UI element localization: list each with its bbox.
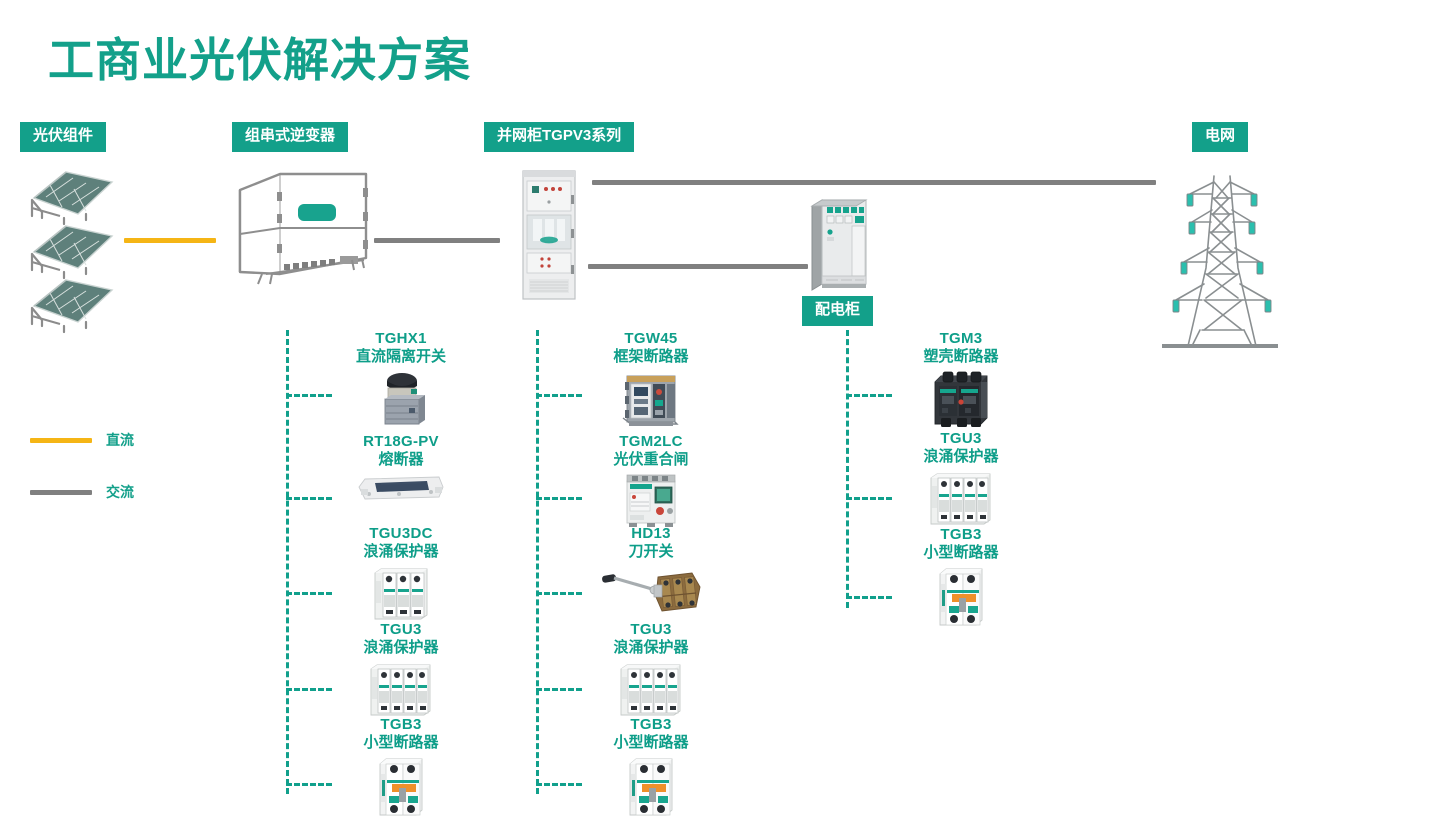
stage-badge-pv-modules[interactable]: 光伏组件 bbox=[20, 122, 106, 152]
product-name: 塑壳断路器 bbox=[846, 348, 1076, 366]
distribution-cabinet-unit bbox=[808, 196, 870, 292]
string-inverter-unit bbox=[232, 168, 374, 304]
transmission-tower-icon bbox=[1162, 168, 1282, 358]
product-name: 光伏重合闸 bbox=[536, 451, 766, 469]
product-item[interactable]: TGW45 框架断路器 bbox=[536, 330, 766, 430]
product-item[interactable]: TGB3 小型断路器 bbox=[846, 526, 1076, 630]
product-image-mcb-2pole bbox=[286, 754, 516, 820]
product-model: TGM3 bbox=[846, 330, 1076, 348]
grid-cabinet-icon bbox=[521, 169, 577, 301]
product-model: TGB3 bbox=[536, 716, 766, 734]
stage-badge-distribution-cabinet[interactable]: 配电柜 bbox=[802, 296, 873, 326]
grid-connection-cabinet bbox=[521, 169, 577, 301]
product-image-knife-switch bbox=[536, 563, 766, 615]
product-model: TGU3 bbox=[286, 621, 516, 639]
stage-badge-power-grid[interactable]: 电网 bbox=[1192, 122, 1248, 152]
product-item[interactable]: TGU3DC 浪涌保护器 bbox=[286, 525, 516, 625]
product-model: TGU3DC bbox=[286, 525, 516, 543]
pv-panel-array bbox=[26, 166, 126, 326]
product-model: TGW45 bbox=[536, 330, 766, 348]
legend-label-dc: 直流 bbox=[106, 430, 134, 450]
product-model: TGU3 bbox=[536, 621, 766, 639]
product-model: HD13 bbox=[536, 525, 766, 543]
stage-badge-string-inverter[interactable]: 组串式逆变器 bbox=[232, 122, 348, 152]
flow-line-dc-pv-to-inverter bbox=[124, 238, 216, 243]
product-item[interactable]: RT18G-PV 熔断器 bbox=[286, 433, 516, 505]
product-image-spd-4pole bbox=[286, 659, 516, 721]
product-item[interactable]: TGB3 小型断路器 bbox=[286, 716, 516, 820]
product-column-distribution: TGM3 塑壳断路器 bbox=[846, 330, 1076, 640]
product-item[interactable]: TGM2LC 光伏重合闸 bbox=[536, 433, 766, 527]
product-name: 小型断路器 bbox=[846, 544, 1076, 562]
product-model: TGB3 bbox=[286, 716, 516, 734]
product-image-mcb-2pole bbox=[536, 754, 766, 820]
legend: 直流 交流 bbox=[30, 430, 134, 502]
product-column-inverter: TGHX1 直流隔离开关 bbox=[286, 330, 516, 830]
product-image-spd-3pole bbox=[286, 563, 516, 625]
inverter-icon bbox=[232, 168, 374, 304]
product-image-mccb bbox=[846, 368, 1076, 430]
product-image-spd-4pole bbox=[536, 659, 766, 721]
product-model: TGHX1 bbox=[286, 330, 516, 348]
product-name: 框架断路器 bbox=[536, 348, 766, 366]
product-name: 熔断器 bbox=[286, 451, 516, 469]
product-item[interactable]: HD13 刀开关 bbox=[536, 525, 766, 615]
legend-swatch-dc bbox=[30, 438, 92, 443]
diagram-canvas: 工商业光伏解决方案 光伏组件 组串式逆变器 并网柜TGPV3系列 配电柜 电网 … bbox=[0, 0, 1436, 829]
page-title: 工商业光伏解决方案 bbox=[48, 24, 471, 90]
product-image-fuse-holder bbox=[286, 471, 516, 505]
product-name: 刀开关 bbox=[536, 543, 766, 561]
product-item[interactable]: TGM3 塑壳断路器 bbox=[846, 330, 1076, 430]
product-image-mcb-2pole bbox=[846, 564, 1076, 630]
product-name: 小型断路器 bbox=[536, 734, 766, 752]
product-item[interactable]: TGU3 浪涌保护器 bbox=[536, 621, 766, 721]
product-name: 直流隔离开关 bbox=[286, 348, 516, 366]
product-name: 小型断路器 bbox=[286, 734, 516, 752]
product-model: TGM2LC bbox=[536, 433, 766, 451]
legend-swatch-ac bbox=[30, 490, 92, 495]
product-name: 浪涌保护器 bbox=[536, 639, 766, 657]
transmission-tower bbox=[1162, 168, 1282, 358]
product-name: 浪涌保护器 bbox=[846, 448, 1076, 466]
flow-line-ac-grid-cabinet-to-distribution bbox=[588, 264, 808, 269]
product-image-spd-4pole bbox=[846, 468, 1076, 530]
product-column-grid-cabinet: TGW45 框架断路器 bbox=[536, 330, 766, 830]
product-name: 浪涌保护器 bbox=[286, 639, 516, 657]
flow-line-ac-inverter-to-grid-cabinet bbox=[374, 238, 500, 243]
product-image-recloser bbox=[536, 471, 766, 527]
legend-item-dc: 直流 bbox=[30, 430, 134, 450]
product-item[interactable]: TGU3 浪涌保护器 bbox=[286, 621, 516, 721]
product-name: 浪涌保护器 bbox=[286, 543, 516, 561]
product-item[interactable]: TGB3 小型断路器 bbox=[536, 716, 766, 820]
product-image-dc-isolator-switch bbox=[286, 368, 516, 430]
product-model: TGU3 bbox=[846, 430, 1076, 448]
legend-item-ac: 交流 bbox=[30, 482, 134, 502]
legend-label-ac: 交流 bbox=[106, 482, 134, 502]
product-item[interactable]: TGHX1 直流隔离开关 bbox=[286, 330, 516, 430]
product-model: RT18G-PV bbox=[286, 433, 516, 451]
distribution-cabinet-icon bbox=[808, 196, 870, 292]
flow-line-ac-grid-cabinet-to-tower bbox=[592, 180, 1156, 185]
pv-panel-icon-group bbox=[26, 166, 126, 326]
product-model: TGB3 bbox=[846, 526, 1076, 544]
product-image-acb-frame-breaker bbox=[536, 368, 766, 430]
stage-badge-grid-cabinet[interactable]: 并网柜TGPV3系列 bbox=[484, 122, 634, 152]
product-item[interactable]: TGU3 浪涌保护器 bbox=[846, 430, 1076, 530]
